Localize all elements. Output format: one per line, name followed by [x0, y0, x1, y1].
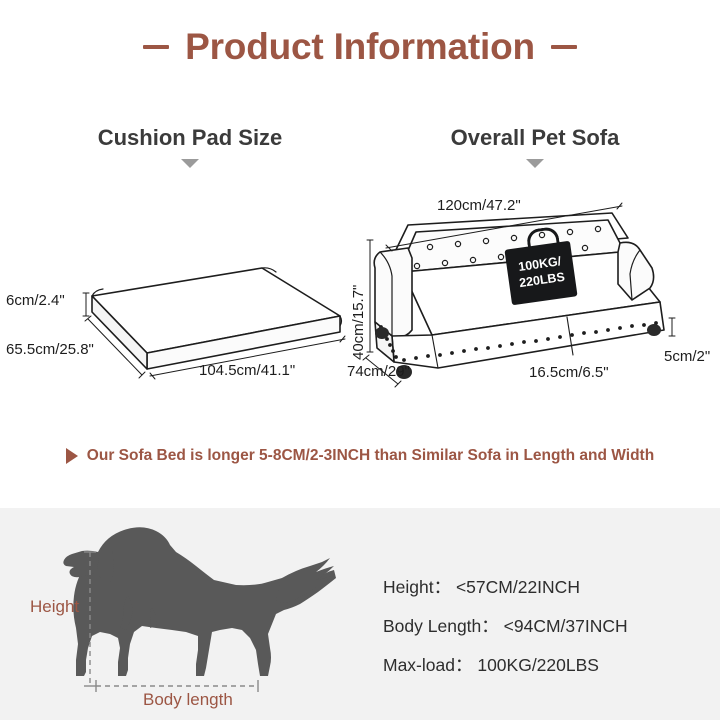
page-title-text: Product Information	[185, 26, 535, 68]
triangle-down-icon	[526, 159, 544, 168]
sofa-leg-height-label: 5cm/2"	[664, 348, 710, 365]
sofa-seat-height-label: 16.5cm/6.5"	[529, 364, 609, 381]
cushion-depth-label: 65.5cm/25.8"	[6, 341, 94, 358]
dog-height-label: Height	[30, 597, 79, 617]
highlight-note: Our Sofa Bed is longer 5-8CM/2-3INCH tha…	[0, 447, 720, 465]
section-heading-cushion-label: Cushion Pad Size	[30, 125, 350, 151]
arrow-right-icon	[66, 448, 78, 464]
highlight-note-text: Our Sofa Bed is longer 5-8CM/2-3INCH tha…	[87, 447, 654, 465]
dog-body-length-label: Body length	[143, 690, 233, 710]
spec-max-load: Max-load： 100KG/220LBS	[383, 652, 599, 677]
max-load-badge: 100KG/ 220LBS	[504, 241, 577, 306]
section-heading-sofa-label: Overall Pet Sofa	[375, 125, 695, 151]
sofa-length-label: 120cm/47.2"	[437, 197, 521, 214]
sofa-feet	[375, 324, 661, 379]
title-dash-right	[551, 45, 577, 49]
cushion-pad-drawing	[92, 268, 342, 369]
triangle-down-icon	[181, 159, 199, 168]
spec-height: Height： <57CM/22INCH	[383, 574, 580, 599]
spec-body-length: Body Length： <94CM/37INCH	[383, 613, 628, 638]
cushion-width-label: 104.5cm/41.1"	[199, 362, 295, 379]
sofa-depth-label: 74cm/29"	[347, 363, 410, 380]
section-heading-cushion: Cushion Pad Size	[30, 125, 350, 168]
cushion-thickness-label: 6cm/2.4"	[6, 292, 65, 309]
product-information-infographic: Product Information Cushion Pad Size Ove…	[0, 0, 720, 720]
sofa-nailhead-trim	[379, 321, 658, 362]
page-title: Product Information	[0, 26, 720, 68]
section-heading-sofa: Overall Pet Sofa	[375, 125, 695, 168]
sofa-height-label: 40cm/15.7"	[350, 285, 367, 360]
title-dash-left	[143, 45, 169, 49]
